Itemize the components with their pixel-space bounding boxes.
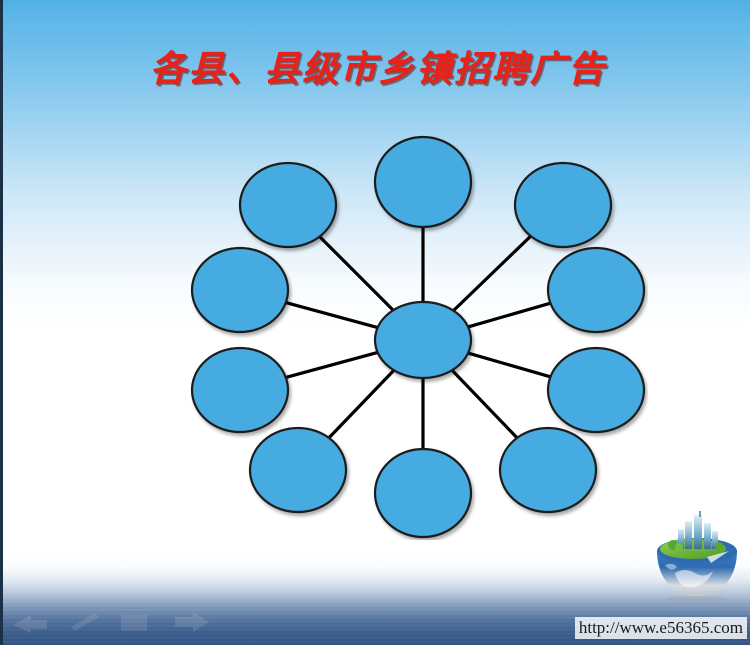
- diagram-node-node-10[interactable]: [240, 163, 336, 247]
- diagram-node-node-1[interactable]: [375, 137, 471, 227]
- diagram-node-node-4[interactable]: [548, 348, 644, 432]
- radial-diagram-svg: [178, 125, 648, 540]
- connector-node-10: [320, 237, 394, 311]
- site-url-watermark: http://www.e56365.com: [575, 617, 747, 639]
- diagram-node-node-6[interactable]: [375, 449, 471, 537]
- connector-node-5: [452, 370, 517, 438]
- diagram-node-node-5[interactable]: [500, 428, 596, 512]
- water-watermark-shapes: [9, 607, 269, 633]
- diagram-node-node-7-shape[interactable]: [250, 428, 346, 512]
- connector-node-8: [286, 352, 378, 377]
- diagram-node-node-8[interactable]: [192, 348, 288, 432]
- globe-icon: [649, 507, 745, 603]
- slide-canvas: 各县、县级市乡镇招聘广告: [0, 0, 750, 645]
- connector-node-2: [453, 236, 530, 311]
- diagram-node-node-6-shape[interactable]: [375, 449, 471, 537]
- diagram-node-node-5-shape[interactable]: [500, 428, 596, 512]
- diagram-node-node-10-shape[interactable]: [240, 163, 336, 247]
- connector-node-3: [468, 303, 550, 327]
- diagram-node-node-2[interactable]: [515, 163, 611, 247]
- radial-diagram: [178, 125, 648, 540]
- slide-title: 各县、县级市乡镇招聘广告: [3, 40, 750, 92]
- globe-city-logo: [649, 507, 745, 603]
- diagram-center-node-shape[interactable]: [375, 302, 471, 378]
- connector-node-4: [468, 353, 550, 377]
- diagram-node-node-8-shape[interactable]: [192, 348, 288, 432]
- diagram-node-node-2-shape[interactable]: [515, 163, 611, 247]
- diagram-node-node-3[interactable]: [548, 248, 644, 332]
- diagram-node-node-9-shape[interactable]: [192, 248, 288, 332]
- diagram-node-node-4-shape[interactable]: [548, 348, 644, 432]
- diagram-node-node-1-shape[interactable]: [375, 137, 471, 227]
- diagram-node-node-7[interactable]: [250, 428, 346, 512]
- diagram-center-node[interactable]: [375, 302, 471, 378]
- center-node-group: [375, 302, 471, 378]
- diagram-node-node-9[interactable]: [192, 248, 288, 332]
- connector-node-7: [329, 370, 394, 438]
- diagram-node-node-3-shape[interactable]: [548, 248, 644, 332]
- connector-node-9: [286, 303, 378, 328]
